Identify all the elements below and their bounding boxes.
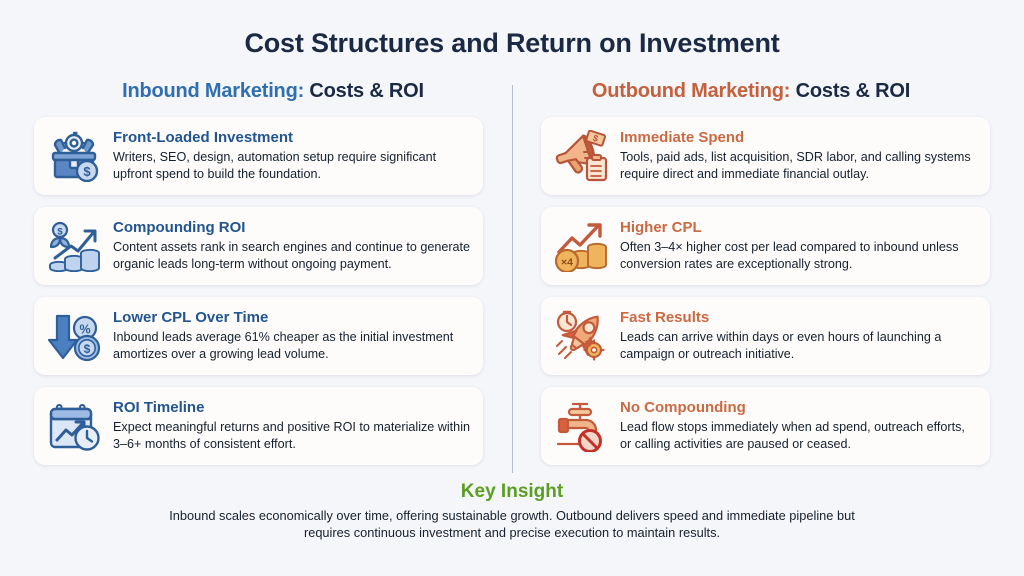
card-text: Fast Results Leads can arrive within day… — [613, 309, 978, 362]
svg-text:$: $ — [84, 342, 91, 356]
card-title: No Compounding — [620, 399, 978, 417]
column-header-outbound: Outbound Marketing: Costs & ROI — [512, 80, 990, 103]
card-text: Higher CPL Often 3–4× higher cost per le… — [613, 219, 978, 272]
down-arrow-percent-coin-icon: % $ — [44, 307, 106, 365]
card-description: Inbound leads average 61% cheaper as the… — [113, 329, 471, 362]
columns-container: $ Front-Loaded Investment Writers, SEO, … — [0, 117, 1024, 465]
svg-text:$: $ — [83, 164, 91, 179]
card-higher-cpl[interactable]: ×4 Higher CPL Often 3–4× higher cost per… — [541, 207, 990, 285]
card-title: Higher CPL — [620, 219, 978, 237]
coin-badge-label: ×4 — [561, 256, 573, 268]
inbound-column: $ Front-Loaded Investment Writers, SEO, … — [34, 117, 512, 465]
card-title: Fast Results — [620, 309, 978, 327]
card-description: Expect meaningful returns and positive R… — [113, 419, 471, 452]
svg-text:%: % — [79, 322, 90, 336]
column-header-inbound-tail: Costs & ROI — [304, 80, 424, 102]
card-text: No Compounding Lead flow stops immediate… — [613, 399, 978, 452]
page-title: Cost Structures and Return on Investment — [0, 29, 1024, 59]
growth-coins-arrow-icon: $ — [44, 217, 106, 275]
column-header-outbound-accent: Outbound Marketing: — [592, 80, 790, 102]
faucet-prohibition-icon — [551, 397, 613, 455]
card-description: Writers, SEO, design, automation setup r… — [113, 149, 471, 182]
card-immediate-spend[interactable]: $ Immediate Spend Tools, paid — [541, 117, 990, 195]
column-header-inbound: Inbound Marketing: Costs & ROI — [34, 80, 512, 103]
card-title: Compounding ROI — [113, 219, 471, 237]
card-description: Often 3–4× higher cost per lead compared… — [620, 239, 978, 272]
megaphone-money-clipboard-icon: $ — [551, 127, 613, 185]
card-title: Lower CPL Over Time — [113, 309, 471, 327]
svg-text:$: $ — [57, 226, 63, 237]
card-text: Lower CPL Over Time Inbound leads averag… — [106, 309, 471, 362]
key-insight-body: Inbound scales economically over time, o… — [162, 507, 862, 542]
card-lower-cpl-over-time[interactable]: % $ Lower CPL Over Time Inbound leads av… — [34, 297, 483, 375]
column-header-inbound-accent: Inbound Marketing: — [122, 80, 304, 102]
card-text: Immediate Spend Tools, paid ads, list ac… — [613, 129, 978, 182]
key-insight-title: Key Insight — [0, 481, 1024, 503]
calendar-trend-clock-icon — [44, 397, 106, 455]
key-insight-section: Key Insight Inbound scales economically … — [0, 481, 1024, 542]
toolbox-gear-dollar-icon: $ — [44, 127, 106, 185]
card-text: ROI Timeline Expect meaningful returns a… — [106, 399, 471, 452]
column-divider — [512, 85, 513, 473]
card-description: Content assets rank in search engines an… — [113, 239, 471, 272]
card-title: Immediate Spend — [620, 129, 978, 147]
infographic-root: Cost Structures and Return on Investment… — [0, 0, 1024, 576]
rocket-stopwatch-gear-icon — [551, 307, 613, 365]
rising-arrow-coin-stacks-icon: ×4 — [551, 217, 613, 275]
card-title: ROI Timeline — [113, 399, 471, 417]
card-description: Tools, paid ads, list acquisition, SDR l… — [620, 149, 978, 182]
card-front-loaded-investment[interactable]: $ Front-Loaded Investment Writers, SEO, … — [34, 117, 483, 195]
card-text: Front-Loaded Investment Writers, SEO, de… — [106, 129, 471, 182]
card-compounding-roi[interactable]: $ — [34, 207, 483, 285]
outbound-column: $ Immediate Spend Tools, paid — [512, 117, 990, 465]
card-no-compounding[interactable]: No Compounding Lead flow stops immediate… — [541, 387, 990, 465]
card-title: Front-Loaded Investment — [113, 129, 471, 147]
card-description: Leads can arrive within days or even hou… — [620, 329, 978, 362]
card-fast-results[interactable]: Fast Results Leads can arrive within day… — [541, 297, 990, 375]
card-description: Lead flow stops immediately when ad spen… — [620, 419, 978, 452]
column-header-outbound-tail: Costs & ROI — [790, 80, 910, 102]
card-text: Compounding ROI Content assets rank in s… — [106, 219, 471, 272]
card-roi-timeline[interactable]: ROI Timeline Expect meaningful returns a… — [34, 387, 483, 465]
